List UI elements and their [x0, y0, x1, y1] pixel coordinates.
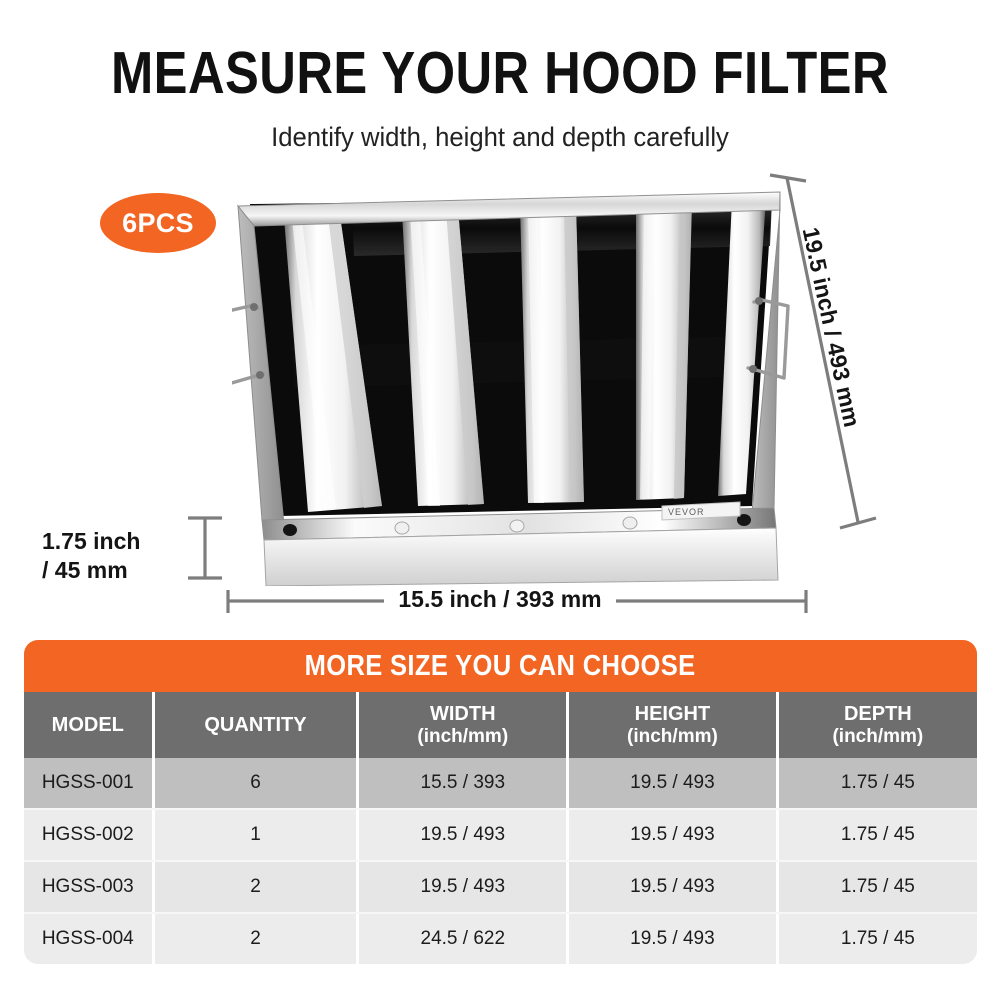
size-table-banner: MORE SIZE YOU CAN CHOOSE [24, 640, 977, 692]
column-header-depth: DEPTH (inch/mm) [779, 692, 977, 758]
depth-label-line-1: 1.75 inch [42, 527, 192, 556]
cell-height: 19.5 / 493 [569, 810, 779, 860]
cell-model: HGSS-002 [24, 810, 155, 860]
cell-quantity: 6 [155, 758, 360, 808]
column-header-width-units: (inch/mm) [417, 726, 508, 747]
cell-height: 19.5 / 493 [569, 758, 779, 808]
cell-width: 24.5 / 622 [359, 914, 569, 964]
cell-width: 15.5 / 393 [359, 758, 569, 808]
table-row: HGSS-002 1 19.5 / 493 19.5 / 493 1.75 / … [24, 810, 977, 862]
column-header-quantity: QUANTITY [155, 692, 360, 758]
cell-depth: 1.75 / 45 [779, 914, 977, 964]
cell-width: 19.5 / 493 [359, 862, 569, 912]
cell-quantity: 1 [155, 810, 360, 860]
column-header-model: MODEL [24, 692, 155, 758]
cell-depth: 1.75 / 45 [779, 862, 977, 912]
size-table-header: MODEL QUANTITY WIDTH (inch/mm) HEIGHT (i… [24, 692, 977, 758]
quantity-badge: 6PCS [100, 193, 216, 253]
table-row: HGSS-004 2 24.5 / 622 19.5 / 493 1.75 / … [24, 914, 977, 964]
cell-height: 19.5 / 493 [569, 914, 779, 964]
cell-model: HGSS-004 [24, 914, 155, 964]
table-row: HGSS-003 2 19.5 / 493 19.5 / 493 1.75 / … [24, 862, 977, 914]
cell-model: HGSS-001 [24, 758, 155, 808]
infographic-page: MEASURE YOUR HOOD FILTER Identify width,… [0, 0, 1000, 1000]
size-table-banner-label: MORE SIZE YOU CAN CHOOSE [305, 650, 696, 683]
cell-depth: 1.75 / 45 [779, 810, 977, 860]
column-header-height: HEIGHT (inch/mm) [569, 692, 779, 758]
cell-quantity: 2 [155, 862, 360, 912]
depth-label-line-2: / 45 mm [42, 556, 192, 585]
column-header-width-title: WIDTH [430, 703, 496, 725]
column-header-height-units: (inch/mm) [627, 726, 718, 747]
depth-dimension-label: 1.75 inch / 45 mm [42, 527, 192, 585]
cell-model: HGSS-003 [24, 862, 155, 912]
quantity-badge-label: 6PCS [122, 208, 194, 239]
column-header-depth-title: DEPTH [844, 703, 912, 725]
table-header-row: MODEL QUANTITY WIDTH (inch/mm) HEIGHT (i… [24, 692, 977, 758]
column-header-width: WIDTH (inch/mm) [359, 692, 569, 758]
cell-width: 19.5 / 493 [359, 810, 569, 860]
column-header-quantity-title: QUANTITY [204, 714, 306, 736]
cell-depth: 1.75 / 45 [779, 758, 977, 808]
column-header-height-title: HEIGHT [635, 703, 711, 725]
column-header-model-title: MODEL [52, 714, 124, 736]
cell-quantity: 2 [155, 914, 360, 964]
column-header-depth-units: (inch/mm) [832, 726, 923, 747]
table-row: HGSS-001 6 15.5 / 393 19.5 / 493 1.75 / … [24, 758, 977, 810]
cell-height: 19.5 / 493 [569, 862, 779, 912]
size-table-body: HGSS-001 6 15.5 / 393 19.5 / 493 1.75 / … [24, 758, 977, 964]
size-table: MORE SIZE YOU CAN CHOOSE MODEL QUANTITY … [24, 640, 977, 964]
